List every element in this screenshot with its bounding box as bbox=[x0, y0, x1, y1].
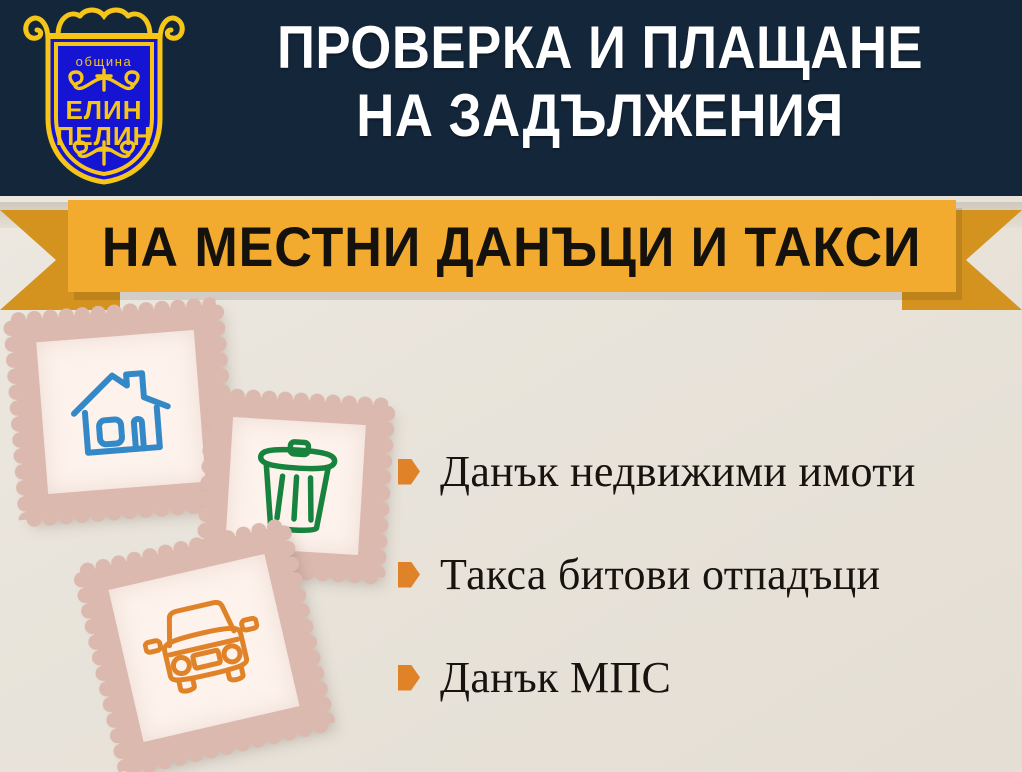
list-item: Такса битови отпадъци bbox=[398, 523, 1008, 626]
house-icon bbox=[65, 360, 176, 464]
stamp-card-car bbox=[80, 525, 329, 771]
ribbon-label: НА МЕСТНИ ДАНЪЦИ И ТАКСИ bbox=[102, 214, 922, 279]
list-item-label: Такса битови отпадъци bbox=[440, 549, 880, 600]
list-item: Данък недвижими имоти bbox=[398, 420, 1008, 523]
ribbon-banner: НА МЕСТНИ ДАНЪЦИ И ТАКСИ bbox=[0, 196, 1022, 316]
crest-small-text: община bbox=[76, 54, 133, 69]
list-item-label: Данък недвижими имоти bbox=[440, 446, 916, 497]
municipality-crest: община ЕЛИН ПЕЛИН bbox=[18, 6, 190, 186]
car-front-icon bbox=[136, 590, 272, 706]
list-item: Данък МПС bbox=[398, 626, 1008, 729]
title-line-2: НА ЗАДЪЛЖЕНИЯ bbox=[239, 82, 961, 150]
stamp-paper bbox=[36, 330, 205, 494]
list-item-label: Данък МПС bbox=[440, 652, 671, 703]
page-title: ПРОВЕРКА И ПЛАЩАНЕ НА ЗАДЪЛЖЕНИЯ bbox=[190, 14, 1010, 150]
bullet-arrow-icon bbox=[398, 665, 420, 691]
bullet-arrow-icon bbox=[398, 562, 420, 588]
tax-type-list: Данък недвижими имоти Такса битови отпад… bbox=[398, 420, 1008, 729]
title-line-1: ПРОВЕРКА И ПЛАЩАНЕ bbox=[239, 14, 961, 82]
ribbon-bar: НА МЕСТНИ ДАНЪЦИ И ТАКСИ bbox=[68, 200, 956, 292]
stamp-card-house bbox=[10, 304, 231, 520]
poster-canvas: община ЕЛИН ПЕЛИН bbox=[0, 0, 1022, 772]
bullet-arrow-icon bbox=[398, 459, 420, 485]
